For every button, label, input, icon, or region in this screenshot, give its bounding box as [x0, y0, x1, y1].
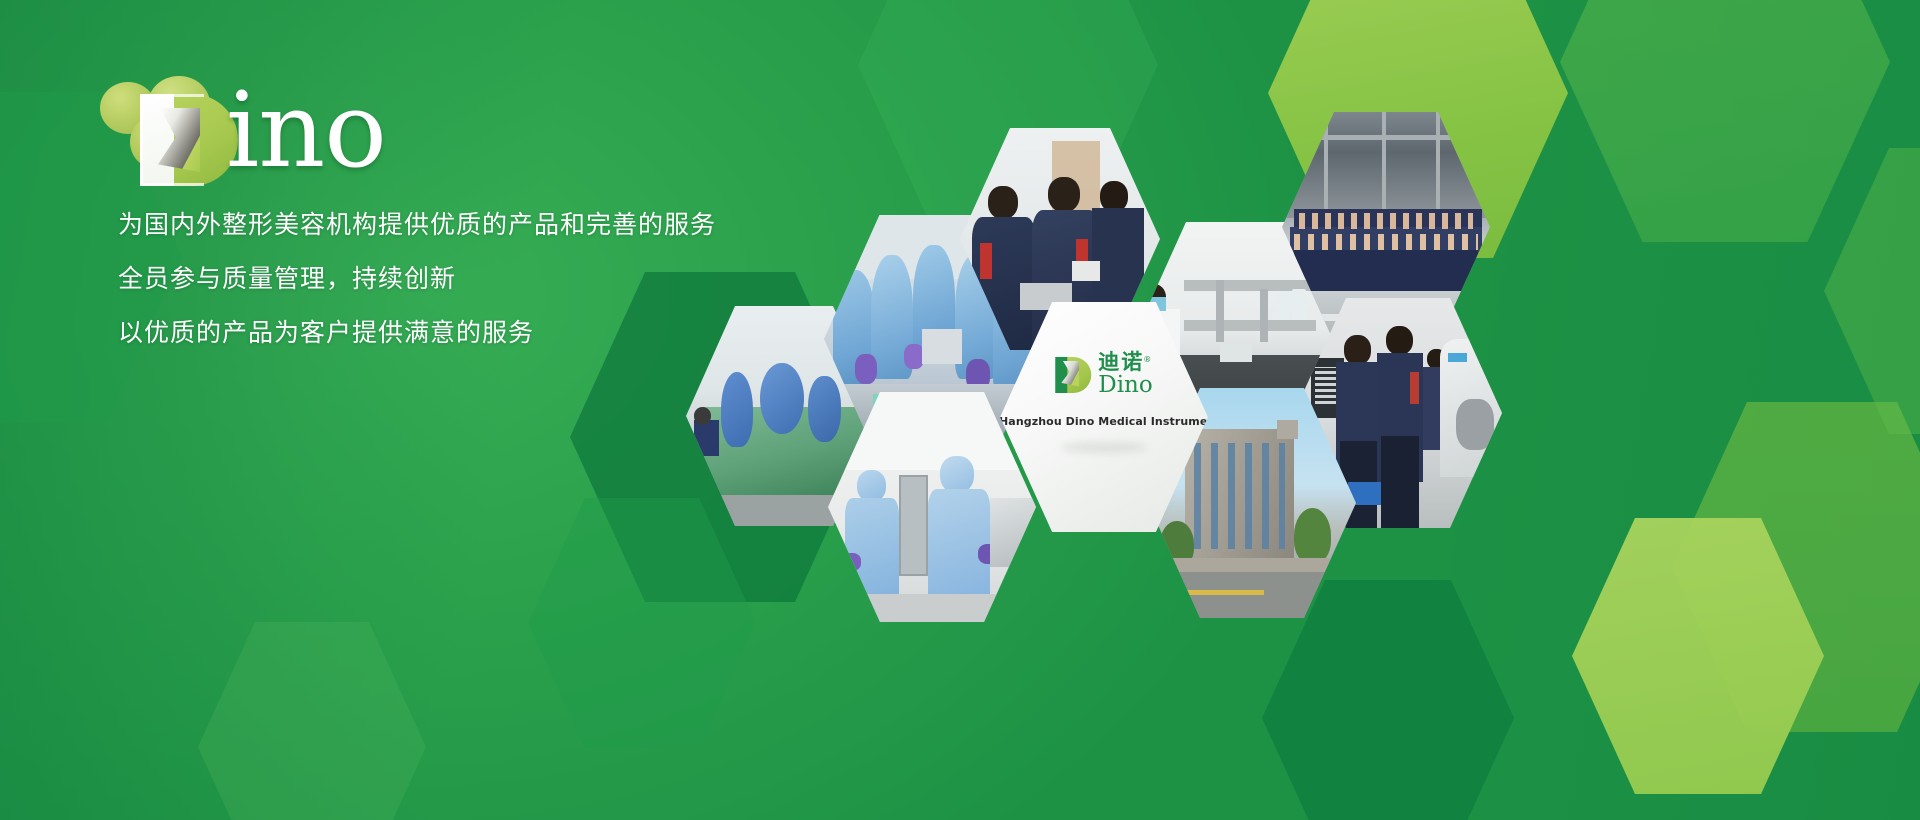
dino-wordmark-logo: ino [100, 68, 460, 186]
registered-mark-icon: ® [1143, 349, 1153, 370]
slogan-line-2: 全员参与质量管理，持续创新 [118, 266, 878, 292]
card-reflection [1061, 442, 1147, 453]
brand-name-cn: 迪诺® [1098, 352, 1144, 373]
logo-wordmark-text: ino [226, 78, 386, 182]
slogan-line-3: 以优质的产品为客户提供满意的服务 [118, 320, 878, 346]
logo-letter-d-icon [140, 94, 238, 186]
hero-banner: 迪诺® Dino Hangzhou Dino Medical Instrumen… [0, 0, 1920, 820]
dino-brand-lockup: 迪诺® Dino [1055, 352, 1152, 397]
brand-name-en: Dino [1098, 374, 1152, 397]
dino-leaf-icon [1055, 357, 1091, 393]
company-name: Hangzhou Dino Medical Instruments Co.. [1000, 415, 1208, 428]
slogan-line-1: 为国内外整形美容机构提供优质的产品和完善的服务 [118, 212, 878, 238]
brand-name-cn-text: 迪诺 [1098, 350, 1144, 374]
slogan-list: 为国内外整形美容机构提供优质的产品和完善的服务 全员参与质量管理，持续创新 以优… [118, 212, 878, 374]
